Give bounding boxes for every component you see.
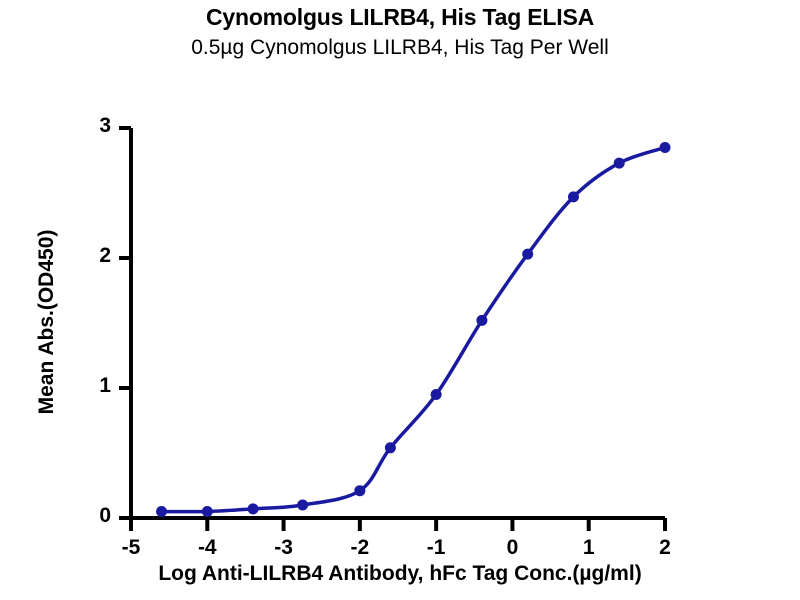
data-point [297, 500, 308, 511]
chart-figure: Cynomolgus LILRB4, His Tag ELISA 0.5µg C… [0, 0, 800, 600]
data-point [476, 315, 487, 326]
data-point [614, 158, 625, 169]
x-axis-tick-label: -3 [264, 536, 304, 560]
data-point [385, 442, 396, 453]
x-axis-tick-label: -4 [187, 536, 227, 560]
data-points [156, 142, 670, 517]
data-point [660, 142, 671, 153]
x-axis-tick-label: 0 [492, 536, 532, 560]
y-axis-tick-label: 0 [81, 504, 111, 528]
x-axis-tick-label: 1 [569, 536, 609, 560]
y-axis-tick-label: 3 [81, 114, 111, 138]
x-axis-tick-label: -5 [111, 536, 151, 560]
data-point [248, 503, 259, 514]
x-axis-tick-label: 2 [645, 536, 685, 560]
data-point [431, 389, 442, 400]
data-point [354, 485, 365, 496]
x-axis-tick-label: -2 [340, 536, 380, 560]
fit-curve [162, 148, 665, 512]
data-point [202, 506, 213, 517]
data-point [568, 191, 579, 202]
data-point [522, 249, 533, 260]
y-axis-tick-label: 2 [81, 244, 111, 268]
plot-area [0, 0, 800, 600]
y-axis-tick-label: 1 [81, 374, 111, 398]
x-axis-tick-label: -1 [416, 536, 456, 560]
data-point [156, 506, 167, 517]
